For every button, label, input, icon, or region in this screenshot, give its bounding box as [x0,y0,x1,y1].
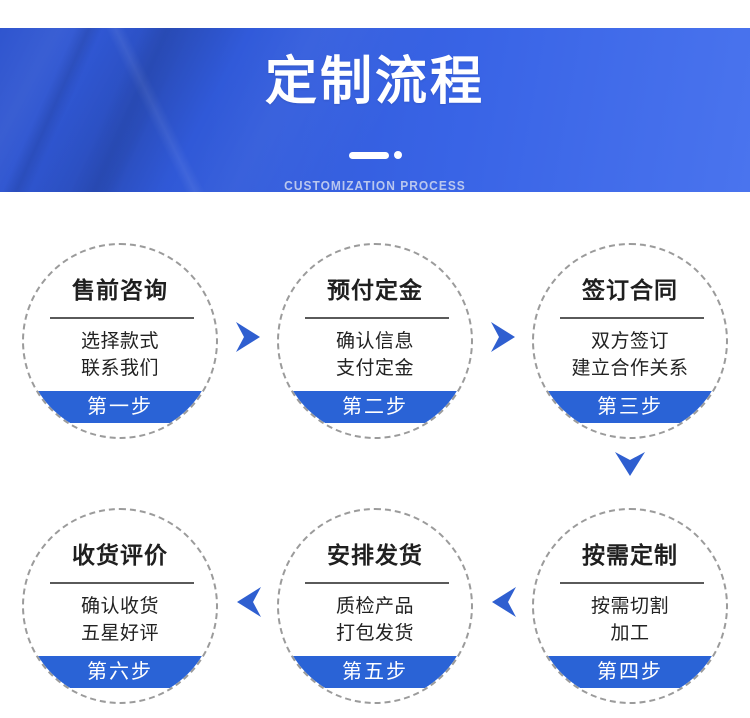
step-3-body-line2: 建立合作关系 [534,356,726,383]
title-divider [0,150,750,160]
step-4-body-line2: 加工 [534,621,726,648]
step-4-title: 按需定制 [534,544,726,567]
divider-dot [394,151,402,159]
step-4-body: 按需切割 加工 [534,594,726,648]
step-6-title: 收货评价 [24,544,216,567]
step-circle-4-inner: 按需定制 按需切割 加工 第四步 [534,510,726,702]
step-3-body-line1: 双方签订 [591,331,669,352]
step-5-body: 质检产品 打包发货 [279,594,471,648]
step-5-badge: 第五步 [279,656,471,688]
step-5-title: 安排发货 [279,544,471,567]
step-1-body: 选择款式 联系我们 [24,329,216,383]
step-6-badge: 第六步 [24,656,216,688]
connector-arrow-4-to-5 [484,587,516,617]
step-2-badge-label: 第二步 [342,397,408,417]
step-2-rule [305,317,449,319]
step-2-body-line2: 支付定金 [279,356,471,383]
customization-process-page: 定制流程 CUSTOMIZATION PROCESS 售前咨询 选择款式 联系我… [0,0,750,718]
step-2-body-line1: 确认信息 [336,331,414,352]
step-2-title: 预付定金 [279,279,471,302]
step-circle-1[interactable]: 售前咨询 选择款式 联系我们 第一步 [22,243,218,439]
step-3-title: 签订合同 [534,279,726,302]
arrow-notch [236,322,244,352]
step-4-badge: 第四步 [534,656,726,688]
step-6-rule [50,582,194,584]
connector-arrow-1-to-2 [236,322,268,352]
step-circle-5[interactable]: 安排发货 质检产品 打包发货 第五步 [277,508,473,704]
step-2-body: 确认信息 支付定金 [279,329,471,383]
step-1-badge: 第一步 [24,391,216,423]
divider-bar [349,152,389,159]
step-1-body-line1: 选择款式 [81,331,159,352]
step-circle-6[interactable]: 收货评价 确认收货 五星好评 第六步 [22,508,218,704]
step-1-rule [50,317,194,319]
arrow-notch [491,322,499,352]
step-circle-1-inner: 售前咨询 选择款式 联系我们 第一步 [24,245,216,437]
step-1-badge-label: 第一步 [87,397,153,417]
page-title: 定制流程 [0,56,750,108]
step-3-body: 双方签订 建立合作关系 [534,329,726,383]
page-subtitle: CUSTOMIZATION PROCESS [30,178,720,192]
step-6-body-line2: 五星好评 [24,621,216,648]
step-3-badge-label: 第三步 [597,397,663,417]
step-5-body-line2: 打包发货 [279,621,471,648]
step-1-title: 售前咨询 [24,279,216,302]
arrow-notch [508,587,516,617]
step-circle-5-inner: 安排发货 质检产品 打包发货 第五步 [279,510,471,702]
step-4-rule [560,582,704,584]
header-banner: 定制流程 CUSTOMIZATION PROCESS [0,28,750,192]
step-6-badge-label: 第六步 [87,662,153,682]
connector-arrow-5-to-6 [229,587,261,617]
step-4-body-line1: 按需切割 [591,596,669,617]
step-3-badge: 第三步 [534,391,726,423]
step-4-badge-label: 第四步 [597,662,663,682]
connector-arrow-3-to-4 [615,452,645,484]
step-5-rule [305,582,449,584]
step-circle-3-inner: 签订合同 双方签订 建立合作关系 第三步 [534,245,726,437]
step-circle-6-inner: 收货评价 确认收货 五星好评 第六步 [24,510,216,702]
step-circle-2-inner: 预付定金 确认信息 支付定金 第二步 [279,245,471,437]
step-3-rule [560,317,704,319]
arrow-notch [253,587,261,617]
step-5-body-line1: 质检产品 [336,596,414,617]
step-circle-3[interactable]: 签订合同 双方签订 建立合作关系 第三步 [532,243,728,439]
step-6-body-line1: 确认收货 [81,596,159,617]
step-circle-2[interactable]: 预付定金 确认信息 支付定金 第二步 [277,243,473,439]
step-circle-4[interactable]: 按需定制 按需切割 加工 第四步 [532,508,728,704]
step-6-body: 确认收货 五星好评 [24,594,216,648]
step-5-badge-label: 第五步 [342,662,408,682]
step-2-badge: 第二步 [279,391,471,423]
connector-arrow-2-to-3 [491,322,523,352]
step-1-body-line2: 联系我们 [24,356,216,383]
arrow-notch [615,452,645,460]
